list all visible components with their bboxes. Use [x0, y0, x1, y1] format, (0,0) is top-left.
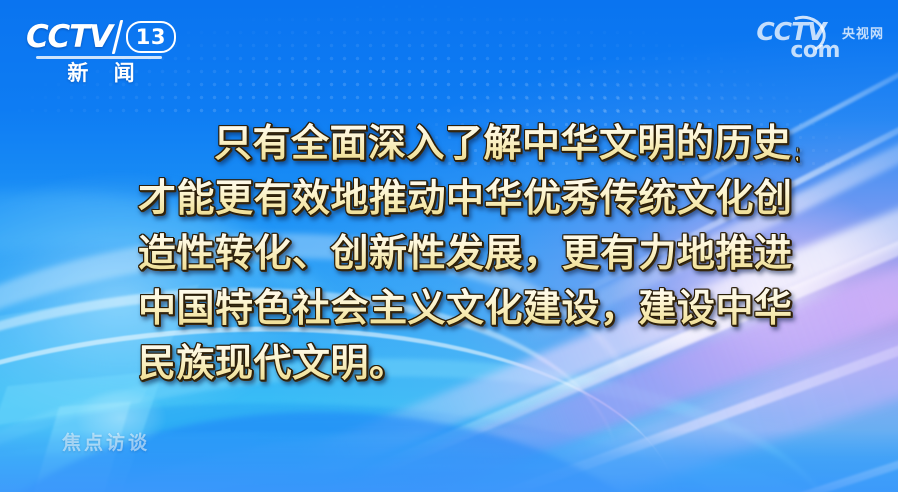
quote-line: 才能更有效地推动中华优秀传统文化创: [138, 171, 798, 226]
quote-line: 中国特色社会主义文化建设，建设中华: [138, 281, 798, 336]
cctv-com-suffix: com: [790, 40, 840, 62]
cctv-com-wordmark: CCTV com: [756, 19, 840, 62]
cctv-com-watermark[interactable]: CCTV com 央视网: [756, 16, 884, 62]
channel-subtitle: 新 闻: [26, 62, 176, 84]
quote-line: 造性转化、创新性发展，更有力地推进: [138, 226, 798, 281]
cctv-13-logo[interactable]: CCTV 13 新 闻: [26, 20, 176, 84]
light-ray: [469, 409, 898, 492]
channel-number-badge: 13: [126, 21, 176, 53]
program-name-watermark: 焦点访谈: [62, 432, 150, 454]
quote-line: 民族现代文明。: [138, 336, 798, 391]
broadcast-frame: CCTV 13 新 闻 CCTV com 央视网 焦点访谈 只有全面深入了解中华…: [0, 0, 898, 492]
cctv-com-chinese-name: 央视网: [842, 27, 884, 42]
cctv-13-logo-row: CCTV 13: [26, 20, 176, 54]
cctv-wordmark: CCTV: [26, 22, 112, 53]
quote-block: 只有全面深入了解中华文明的历史， 才能更有效地推动中华优秀传统文化创 造性转化、…: [138, 116, 798, 391]
quote-line: 只有全面深入了解中华文明的历史，: [138, 116, 798, 171]
logo-slash-divider: [112, 20, 123, 54]
logo-underline: [36, 56, 162, 59]
channel-number: 13: [136, 27, 166, 48]
